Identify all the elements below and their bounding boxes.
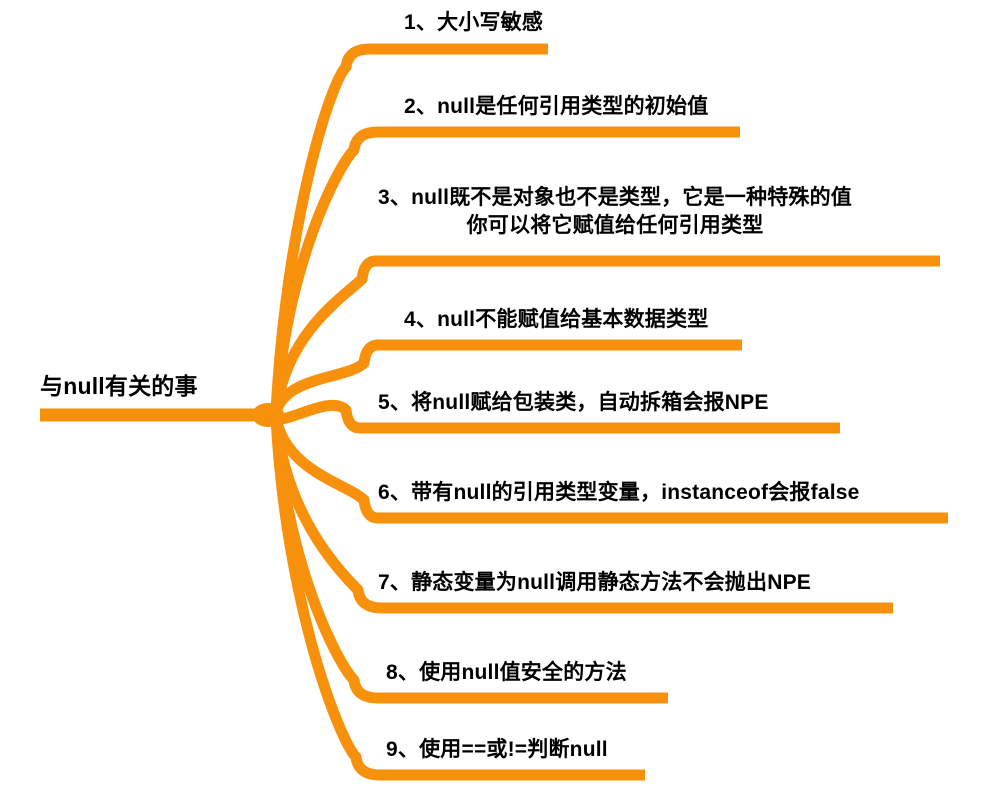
- topic-line: 1、大小写敏感: [404, 10, 543, 36]
- topic-line: 5、将null赋给包装类，自动拆箱会报NPE: [378, 390, 769, 416]
- root-bar-group: [40, 403, 284, 427]
- topic-label-7[interactable]: 7、静态变量为null调用静态方法不会抛出NPE: [378, 570, 811, 596]
- topic-label-1[interactable]: 1、大小写敏感: [404, 10, 543, 36]
- mind-map-canvas: 与null有关的事 1、大小写敏感2、null是任何引用类型的初始值3、null…: [0, 0, 1004, 792]
- topic-line: 2、null是任何引用类型的初始值: [404, 94, 708, 120]
- topic-line: 6、带有null的引用类型变量，instanceof会报false: [378, 480, 860, 506]
- topic-label-2[interactable]: 2、null是任何引用类型的初始值: [404, 94, 708, 120]
- topic-label-9[interactable]: 9、使用==或!=判断null: [386, 737, 608, 763]
- topic-line: 8、使用null值安全的方法: [386, 660, 627, 686]
- branch-connector-9[interactable]: [276, 418, 645, 775]
- topic-label-5[interactable]: 5、将null赋给包装类，自动拆箱会报NPE: [378, 390, 769, 416]
- topic-label-8[interactable]: 8、使用null值安全的方法: [386, 660, 627, 686]
- topic-line: 你可以将它赋值给任何引用类型: [378, 212, 852, 240]
- root-node-label[interactable]: 与null有关的事: [40, 372, 198, 400]
- topic-line: 4、null不能赋值给基本数据类型: [404, 307, 708, 333]
- topic-label-4[interactable]: 4、null不能赋值给基本数据类型: [404, 307, 708, 333]
- topic-label-6[interactable]: 6、带有null的引用类型变量，instanceof会报false: [378, 480, 860, 506]
- topic-line: 9、使用==或!=判断null: [386, 737, 608, 763]
- hub-junction: [252, 403, 284, 427]
- topic-line: 7、静态变量为null调用静态方法不会抛出NPE: [378, 570, 811, 596]
- topic-label-3[interactable]: 3、null既不是对象也不是类型，它是一种特殊的值你可以将它赋值给任何引用类型: [378, 184, 852, 239]
- topic-line: 3、null既不是对象也不是类型，它是一种特殊的值: [378, 184, 852, 212]
